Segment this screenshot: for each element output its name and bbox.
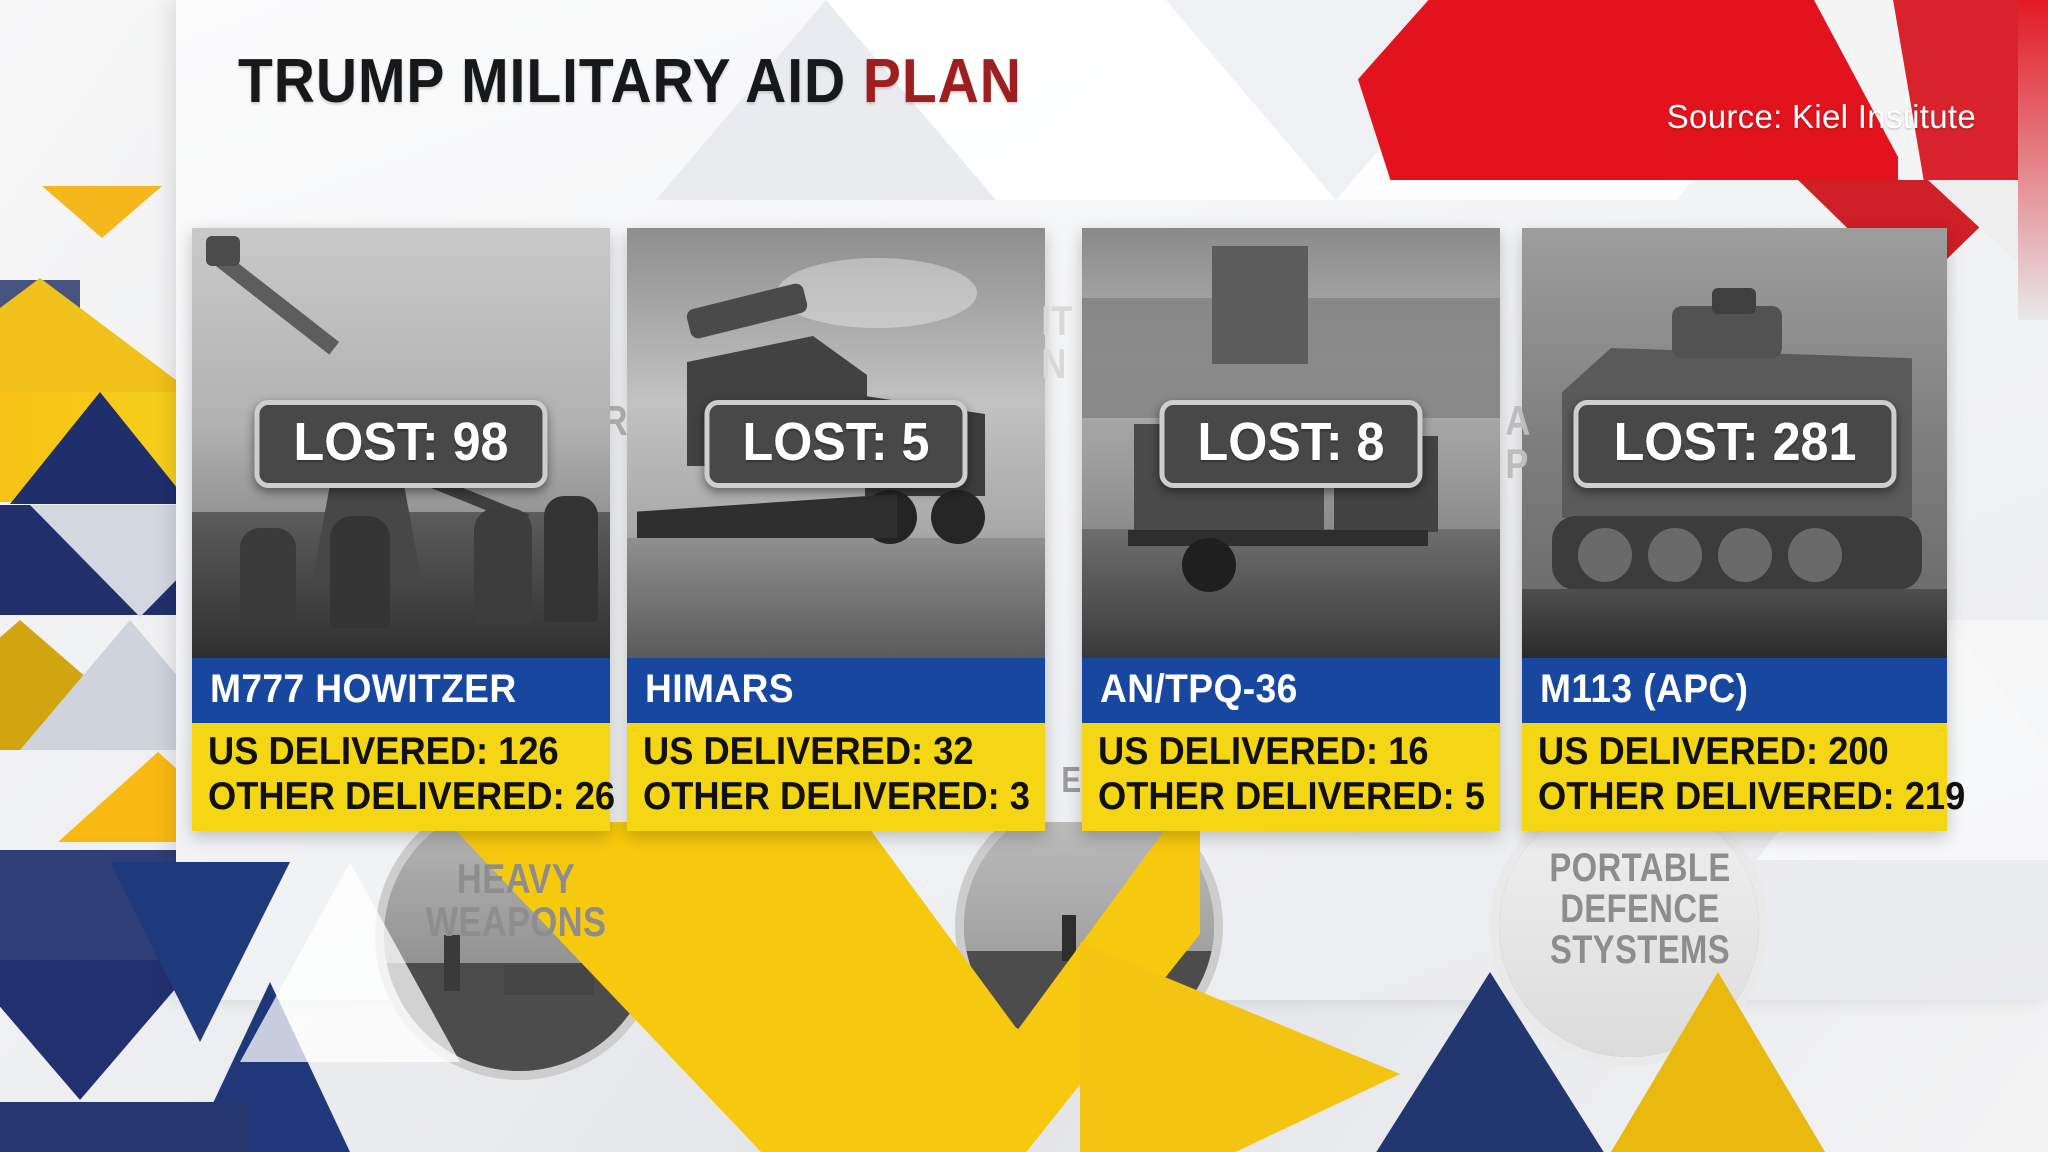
status-badge-lost-label: LOST: 281 [1613,411,1856,473]
equipment-name: HIMARS [645,667,794,712]
stat-us-delivered: US DELIVERED: 16 [1098,729,1484,774]
photo-detail-apc-hatch [1712,288,1756,314]
navy-triangle-lower-right [1370,972,1610,1152]
status-badge-lost: LOST: 8 [1159,400,1422,488]
photo-detail-wheel-2 [931,490,985,544]
watermark-partial-right: A P [1505,400,1554,486]
stat-other-delivered: OTHER DELIVERED: 219 [1538,774,1931,819]
photo-detail-soldier-4 [544,496,598,622]
photo-detail-soldier-1 [240,528,296,624]
photo-detail-roadwheel-4 [1788,528,1842,582]
equipment-card[interactable]: LOST: 98 M777 HOWITZER US DELIVERED: 126… [192,228,610,831]
photo-detail-trailer-frame [1128,530,1428,546]
equipment-photo: LOST: 8 [1082,228,1500,658]
equipment-stats: US DELIVERED: 126 OTHER DELIVERED: 26 [192,723,610,831]
stat-us-delivered: US DELIVERED: 200 [1538,729,1931,774]
broadcast-graphic: HEAVY WEAPONS PORTABLE DEFENCE STYSTEMS … [0,0,2048,1152]
stat-other-delivered: OTHER DELIVERED: 3 [643,774,1029,819]
watermark-heavy-weapons: HEAVY WEAPONS [401,858,631,944]
equipment-name: M777 HOWITZER [210,667,517,712]
watermark-partial-mid: IT N [1041,300,1090,386]
equipment-name-bar: HIMARS [627,658,1045,723]
gold-triangle-lower-right [1608,972,1828,1152]
status-badge-lost: LOST: 281 [1573,400,1896,488]
photo-detail-trailer-wheel [1182,538,1236,592]
stat-other-delivered: OTHER DELIVERED: 26 [208,774,594,819]
status-badge-lost-label: LOST: 98 [294,411,509,473]
status-badge-lost-label: LOST: 8 [1198,411,1385,473]
photo-detail-soldier-2 [330,516,390,628]
stat-us-delivered: US DELIVERED: 126 [208,729,594,774]
gold-wedge-right [1080,942,1400,1152]
photo-detail-roadwheel-1 [1578,528,1632,582]
status-badge-lost: LOST: 98 [254,400,547,488]
navy-band-bottom [0,1102,250,1152]
equipment-name-bar: AN/TPQ-36 [1082,658,1500,723]
equipment-stats: US DELIVERED: 200 OTHER DELIVERED: 219 [1522,723,1947,831]
equipment-stats: US DELIVERED: 32 OTHER DELIVERED: 3 [627,723,1045,831]
watermark-portable-defence: PORTABLE DEFENCE STYSTEMS [1517,848,1763,970]
equipment-photo: LOST: 281 [1522,228,1947,658]
photo-detail-muzzle [206,236,240,266]
stat-us-delivered: US DELIVERED: 32 [643,729,1029,774]
equipment-card[interactable]: LOST: 8 AN/TPQ-36 US DELIVERED: 16 OTHER… [1082,228,1500,831]
equipment-card[interactable]: LOST: 281 M113 (APC) US DELIVERED: 200 O… [1522,228,1947,831]
stat-other-delivered: OTHER DELIVERED: 5 [1098,774,1484,819]
equipment-name-bar: M777 HOWITZER [192,658,610,723]
photo-detail-radar-panel [1212,246,1308,364]
equipment-stats: US DELIVERED: 16 OTHER DELIVERED: 5 [1082,723,1500,831]
equipment-photo: LOST: 98 [192,228,610,658]
photo-detail-roadwheel-2 [1648,528,1702,582]
equipment-name-bar: M113 (APC) [1522,658,1947,723]
source-label: Source: Kiel Institute [1667,98,1976,136]
equipment-name: AN/TPQ-36 [1100,667,1298,712]
photo-detail-cloud [777,258,977,328]
equipment-photo: LOST: 5 [627,228,1045,658]
status-badge-lost: LOST: 5 [704,400,967,488]
equipment-name: M113 (APC) [1540,667,1748,712]
photo-detail-roadwheel-3 [1718,528,1772,582]
photo-detail-soldier-3 [474,508,532,624]
status-badge-lost-label: LOST: 5 [743,411,930,473]
equipment-card[interactable]: LOST: 5 HIMARS US DELIVERED: 32 OTHER DE… [627,228,1045,831]
